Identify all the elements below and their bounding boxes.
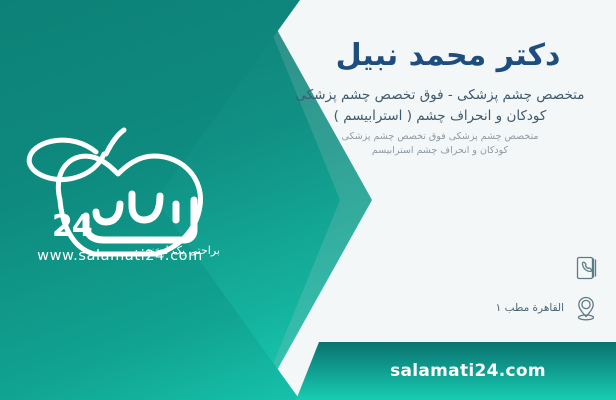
logo-24-badge: 24	[52, 209, 92, 244]
specialty-sub-line-2: کودکان و انحراف چشم استرابیسم	[266, 144, 616, 158]
logo-website-url[interactable]: www.salamati24.com	[20, 248, 220, 264]
svg-text:24: 24	[52, 209, 92, 244]
doctor-name: دکتر محمد نبیل	[266, 36, 616, 75]
profile-content: دکتر محمد نبیل متخصص چشم پزشکی - فوق تخص…	[266, 0, 616, 400]
business-card: 24 براحتی یک لبخند www.salamati24.com دک…	[0, 0, 616, 400]
specialty-line-2: کودکان و انحراف چشم ( استرابیسم )	[266, 106, 616, 127]
salamati24-logo: 24 براحتی یک لبخند	[8, 108, 236, 268]
specialty-line-1: متخصص چشم پزشکی - فوق تخصص چشم پزشکی	[266, 85, 616, 106]
specialty-sub-line-1: متخصص چشم پزشکی فوق تخصص چشم پزشکی	[266, 130, 616, 144]
